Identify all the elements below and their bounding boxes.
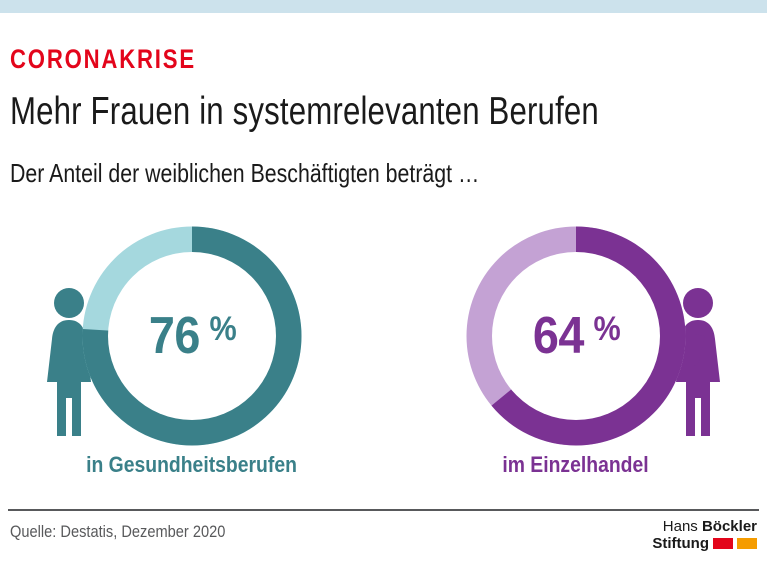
donut-value-label-right: 64% [466,226,686,446]
page-subtitle: Der Anteil der weiblichen Beschäftigten … [10,158,479,189]
logo-line-one: Hans Böckler [647,518,757,535]
logo-hans: Hans [663,518,702,535]
donut-value-percent-right: % [593,310,620,349]
donut-value-number-right: 64 [533,306,584,366]
donut-value-label-left: 76% [82,226,302,446]
donut-value-percent-left: % [209,310,236,349]
chart-panel-gesundheitsberufe: 76% in Gesundheitsberufen [0,216,383,486]
logo-boeckler: Böckler [702,518,757,535]
logo-line-two: Stiftung [647,535,757,552]
top-color-band [0,0,767,13]
chart-caption-left: in Gesundheitsberufen [23,452,360,478]
page-title: Mehr Frauen in systemrelevanten Berufen [10,90,599,134]
footer-divider [8,509,759,511]
donut-chart-gesundheitsberufe: 76% [82,226,302,446]
infographic-page: CORONAKRISE Mehr Frauen in systemrelevan… [0,0,767,570]
source-label: Quelle: Destatis, Dezember 2020 [10,522,225,542]
logo-stiftung: Stiftung [652,535,709,552]
hans-boeckler-stiftung-logo: Hans Böckler Stiftung [647,518,757,560]
logo-bar-red [713,538,733,549]
charts-area: 76% in Gesundheitsberufen [0,216,767,486]
chart-panel-einzelhandel: 64% im Einzelhandel [384,216,767,486]
donut-chart-einzelhandel: 64% [466,226,686,446]
chart-caption-right: im Einzelhandel [407,452,744,478]
kicker-label: CORONAKRISE [10,44,196,75]
logo-bar-orange [737,538,757,549]
donut-value-number-left: 76 [149,306,200,366]
